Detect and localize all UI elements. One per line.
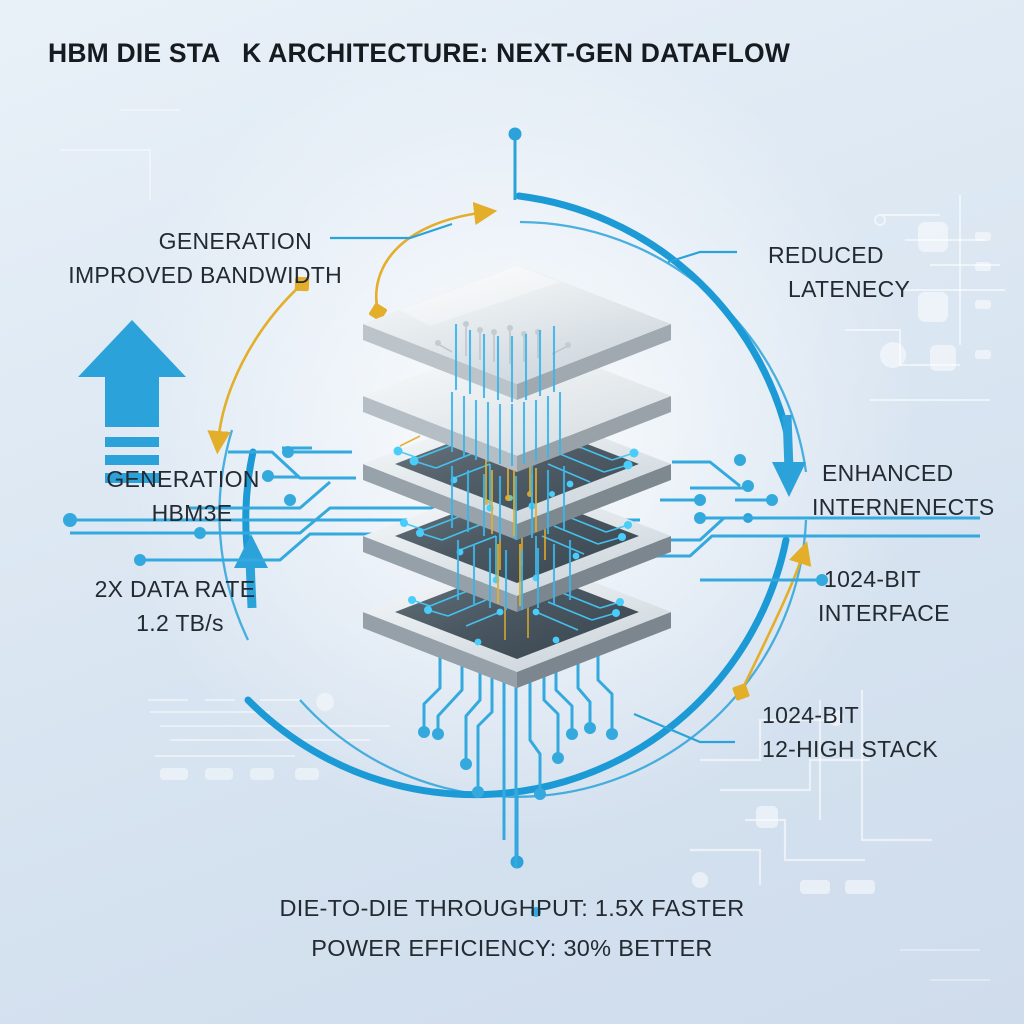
label-line-1: GENERATION	[62, 224, 342, 258]
label-line-2: 1.2 TB/s	[70, 606, 280, 640]
label-line-1: 1024-BIT	[762, 702, 859, 728]
label-line-2: LATENECY	[768, 272, 910, 306]
label-line-2: HBM3E	[68, 496, 298, 530]
label-line-2: INTERFACE	[818, 596, 950, 630]
page-title: HBM DIE STA K ARCHITECTURE: NEXT-GEN DAT…	[48, 38, 790, 69]
footer-metrics: DIE-TO-DIE THROUGHPUT: 1.5X FASTER POWER…	[0, 888, 1024, 968]
label-data-rate: 2X DATA RATE 1.2 TB/s	[70, 572, 280, 640]
label-12-high-stack: 1024-BIT 12-HIGH STACK	[762, 698, 938, 766]
label-line-2: 12-HIGH STACK	[762, 732, 938, 766]
label-line-1: ENHANCED	[812, 460, 953, 486]
label-line-1: REDUCED	[768, 242, 884, 268]
footer-throughput: DIE-TO-DIE THROUGHPUT: 1.5X FASTER	[0, 888, 1024, 928]
label-line-1: 1024-BIT	[818, 566, 921, 592]
label-line-1: 2X DATA RATE	[95, 576, 256, 602]
label-line-1: GENERATION	[106, 466, 259, 492]
label-improved-bandwidth: GENERATION IMPROVED BANDWIDTH	[62, 224, 342, 292]
footer-power: POWER EFFICIENCY: 30% BETTER	[0, 928, 1024, 968]
infographic-canvas: HBM DIE STA K ARCHITECTURE: NEXT-GEN DAT…	[0, 0, 1024, 1024]
label-reduced-latency: REDUCED LATENECY	[768, 238, 910, 306]
label-line-2: IMPROVED BANDWIDTH	[62, 258, 342, 292]
label-line-2: INTERNENECTS	[812, 490, 995, 524]
label-generation-hbm3e: GENERATION HBM3E	[68, 462, 298, 530]
label-1024-bit-interface: 1024-BIT INTERFACE	[818, 562, 950, 630]
label-enhanced-interconnects: ENHANCED INTERNENECTS	[812, 456, 995, 524]
